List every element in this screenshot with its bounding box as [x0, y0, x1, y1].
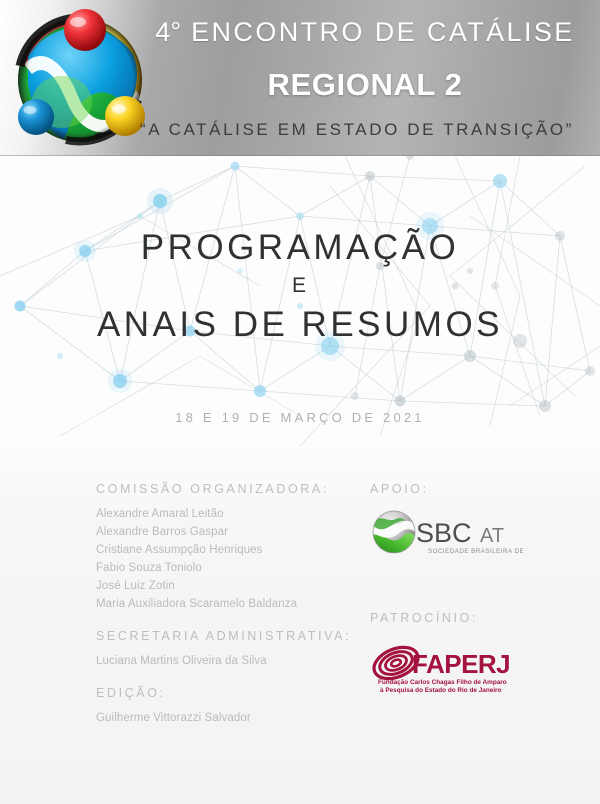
secretary-heading: SECRETARIA ADMINISTRATIVA:: [96, 629, 371, 643]
network-background: [0, 156, 600, 446]
secretary-name: Luciana Martins Oliveira da Silva: [96, 652, 371, 670]
organizer-name: Cristiane Assumpção Henriques: [96, 541, 371, 559]
organizer-name: Alexandre Barros Gaspar: [96, 523, 371, 541]
poster-header: 4°ENCONTRO DE CATÁLISE REGIONAL 2 “A CAT…: [0, 0, 600, 156]
event-number: 4°: [155, 17, 181, 47]
faperj-logo-graphic: FAPERJ Fundação Carlos Chagas Filho de A…: [370, 641, 522, 697]
svg-text:SOCIEDADE BRASILEIRA DE CATÁLI: SOCIEDADE BRASILEIRA DE CATÁLISE: [428, 548, 525, 555]
svg-text:AT: AT: [480, 525, 504, 547]
patron-heading: PATROCÍNIO:: [370, 611, 585, 625]
credits-left-column: COMISSÃO ORGANIZADORA: Alexandre Amaral …: [96, 482, 371, 727]
credits-right-column: APOIO:: [370, 482, 585, 697]
svg-text:à Pesquisa do Estado do Rio de: à Pesquisa do Estado do Rio de Janeiro: [380, 687, 502, 694]
organizer-name: Maria Auxiliadora Scaramelo Baldanza: [96, 595, 371, 613]
organizer-name: José Luiz Zotin: [96, 577, 371, 595]
organizing-committee-heading: COMISSÃO ORGANIZADORA:: [96, 482, 371, 496]
event-title-primary: 4°ENCONTRO DE CATÁLISE: [140, 17, 590, 48]
conference-poster: 4°ENCONTRO DE CATÁLISE REGIONAL 2 “A CAT…: [0, 0, 600, 804]
svg-text:Fundação Carlos Chagas Filho d: Fundação Carlos Chagas Filho de Amparo: [378, 679, 507, 686]
svg-text:FAPERJ: FAPERJ: [412, 649, 510, 679]
network-graphic: [0, 156, 600, 446]
sbcat-logo: SBC AT SOCIEDADE BRASILEIRA DE CATÁLISE: [370, 509, 525, 561]
event-name: ENCONTRO DE CATÁLISE: [191, 17, 575, 47]
sbcat-logo-graphic: SBC AT SOCIEDADE BRASILEIRA DE CATÁLISE: [370, 509, 525, 561]
support-heading: APOIO:: [370, 482, 585, 496]
faperj-logo: FAPERJ Fundação Carlos Chagas Filho de A…: [370, 641, 522, 697]
editor-name: Guilherme Vittorazzi Salvador: [96, 709, 371, 727]
organizer-name: Alexandre Amaral Leitão: [96, 505, 371, 523]
credits-section: COMISSÃO ORGANIZADORA: Alexandre Amaral …: [0, 446, 600, 804]
organizer-name: Fabio Souza Toniolo: [96, 559, 371, 577]
svg-text:SBC: SBC: [416, 518, 472, 548]
event-tagline: “A CATÁLISE EM ESTADO DE TRANSIÇÃO”: [120, 120, 594, 140]
event-edition: REGIONAL 2: [140, 67, 590, 103]
edition-heading: EDIÇÃO:: [96, 686, 371, 700]
event-date: 18 E 19 DE MARÇO DE 2021: [0, 410, 600, 425]
